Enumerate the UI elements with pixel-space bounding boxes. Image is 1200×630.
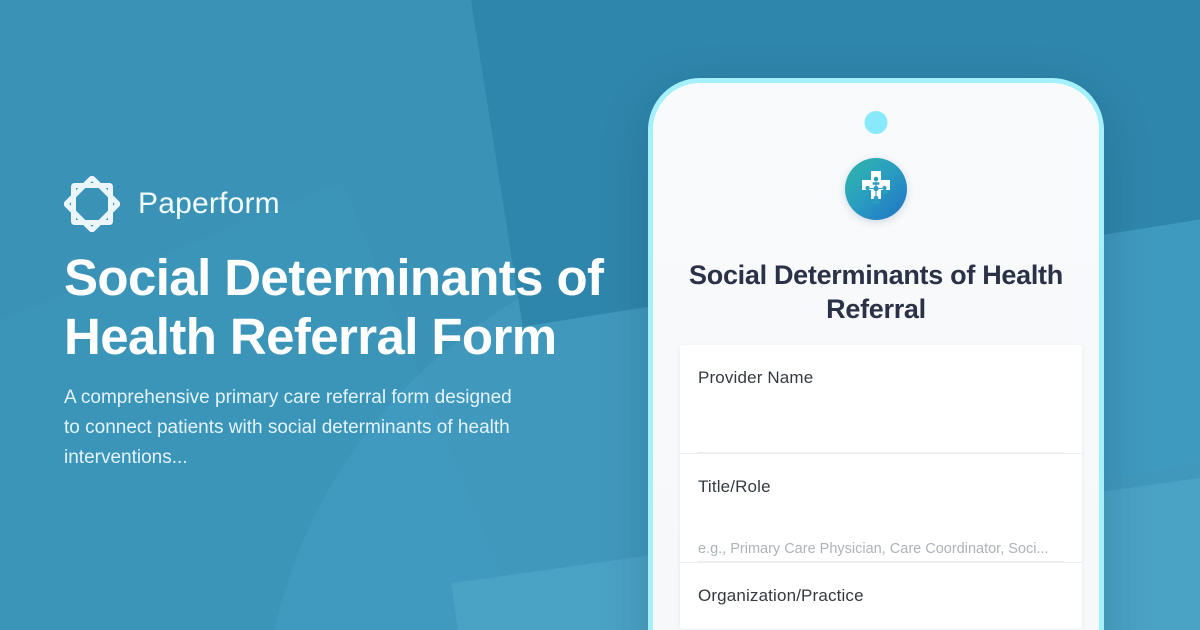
camera-dot-icon <box>865 111 888 134</box>
field-label: Provider Name <box>698 367 1064 389</box>
field-label: Title/Role <box>698 476 1064 498</box>
field-placeholder: e.g., Primary Care Physician, Care Coord… <box>698 541 1049 558</box>
brand-name: Paperform <box>138 189 280 219</box>
brand-lockup: Paperform <box>64 176 280 232</box>
form-title: Social Determinants of Health Referral <box>685 258 1067 326</box>
form-field-title-role[interactable]: Title/Role e.g., Primary Care Physician,… <box>680 454 1082 563</box>
form-field-organization-practice[interactable]: Organization/Practice <box>680 563 1082 629</box>
og-image-canvas: Paperform Social Determinants of Health … <box>0 0 1200 630</box>
field-label: Organization/Practice <box>698 585 1064 607</box>
paperform-logo-icon <box>64 176 120 232</box>
phone-screen: Social Determinants of Health Referral P… <box>653 83 1099 630</box>
title-role-input[interactable]: e.g., Primary Care Physician, Care Coord… <box>698 528 1064 562</box>
page-description: A comprehensive primary care referral fo… <box>64 383 516 473</box>
page-title: Social Determinants of Health Referral F… <box>64 248 634 366</box>
form-card: Provider Name Title/Role e.g., Primary C… <box>680 345 1082 629</box>
hero-content: Paperform Social Determinants of Health … <box>64 0 624 630</box>
provider-name-input[interactable] <box>698 419 1064 453</box>
phone-mockup: Social Determinants of Health Referral P… <box>648 78 1104 630</box>
form-field-provider-name[interactable]: Provider Name <box>680 345 1082 454</box>
medical-cross-network-icon <box>845 158 907 220</box>
